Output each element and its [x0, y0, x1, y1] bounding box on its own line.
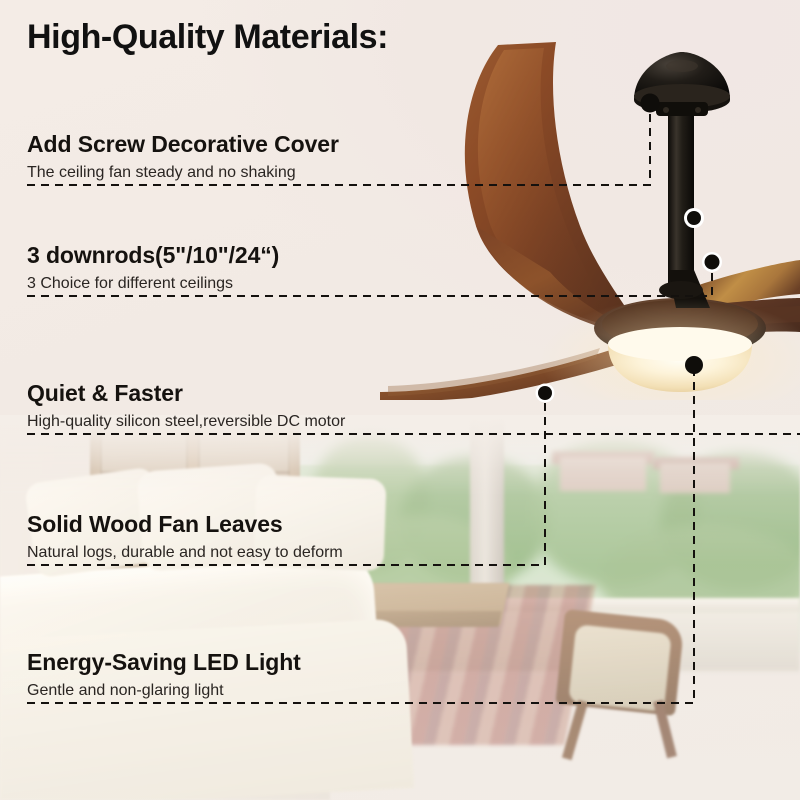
feature-subtext-led-light: Gentle and non-glaring light	[27, 681, 301, 701]
feature-subtext-solid-wood: Natural logs, durable and not easy to de…	[27, 543, 343, 563]
feature-heading-downrods: 3 downrods(5"/10"/24“)	[27, 243, 279, 269]
page-title: High-Quality Materials:	[27, 18, 388, 57]
feature-heading-screw-cover: Add Screw Decorative Cover	[27, 132, 339, 158]
feature-subtext-quiet-faster: High-quality silicon steel,reversible DC…	[27, 412, 345, 432]
room-background-photo	[0, 415, 800, 800]
feature-block-quiet-faster: Quiet & Faster High-quality silicon stee…	[27, 381, 345, 432]
infographic-canvas: High-Quality Materials: Add Screw Decora…	[0, 0, 800, 800]
ceiling-fan-product-image	[380, 40, 800, 400]
photo-house	[660, 463, 730, 493]
feature-heading-quiet-faster: Quiet & Faster	[27, 381, 345, 407]
feature-block-solid-wood: Solid Wood Fan Leaves Natural logs, dura…	[27, 512, 343, 563]
feature-subtext-downrods: 3 Choice for different ceilings	[27, 274, 279, 294]
feature-heading-solid-wood: Solid Wood Fan Leaves	[27, 512, 343, 538]
photo-sofa-seat	[0, 618, 414, 800]
feature-block-downrods: 3 downrods(5"/10"/24“) 3 Choice for diff…	[27, 243, 279, 294]
feature-heading-led-light: Energy-Saving LED Light	[27, 650, 301, 676]
feature-block-screw-cover: Add Screw Decorative Cover The ceiling f…	[27, 132, 339, 183]
photo-lounge-chair-cushion	[568, 624, 672, 712]
photo-house	[560, 457, 646, 491]
feature-block-led-light: Energy-Saving LED Light Gentle and non-g…	[27, 650, 301, 701]
feature-subtext-screw-cover: The ceiling fan steady and no shaking	[27, 163, 339, 183]
